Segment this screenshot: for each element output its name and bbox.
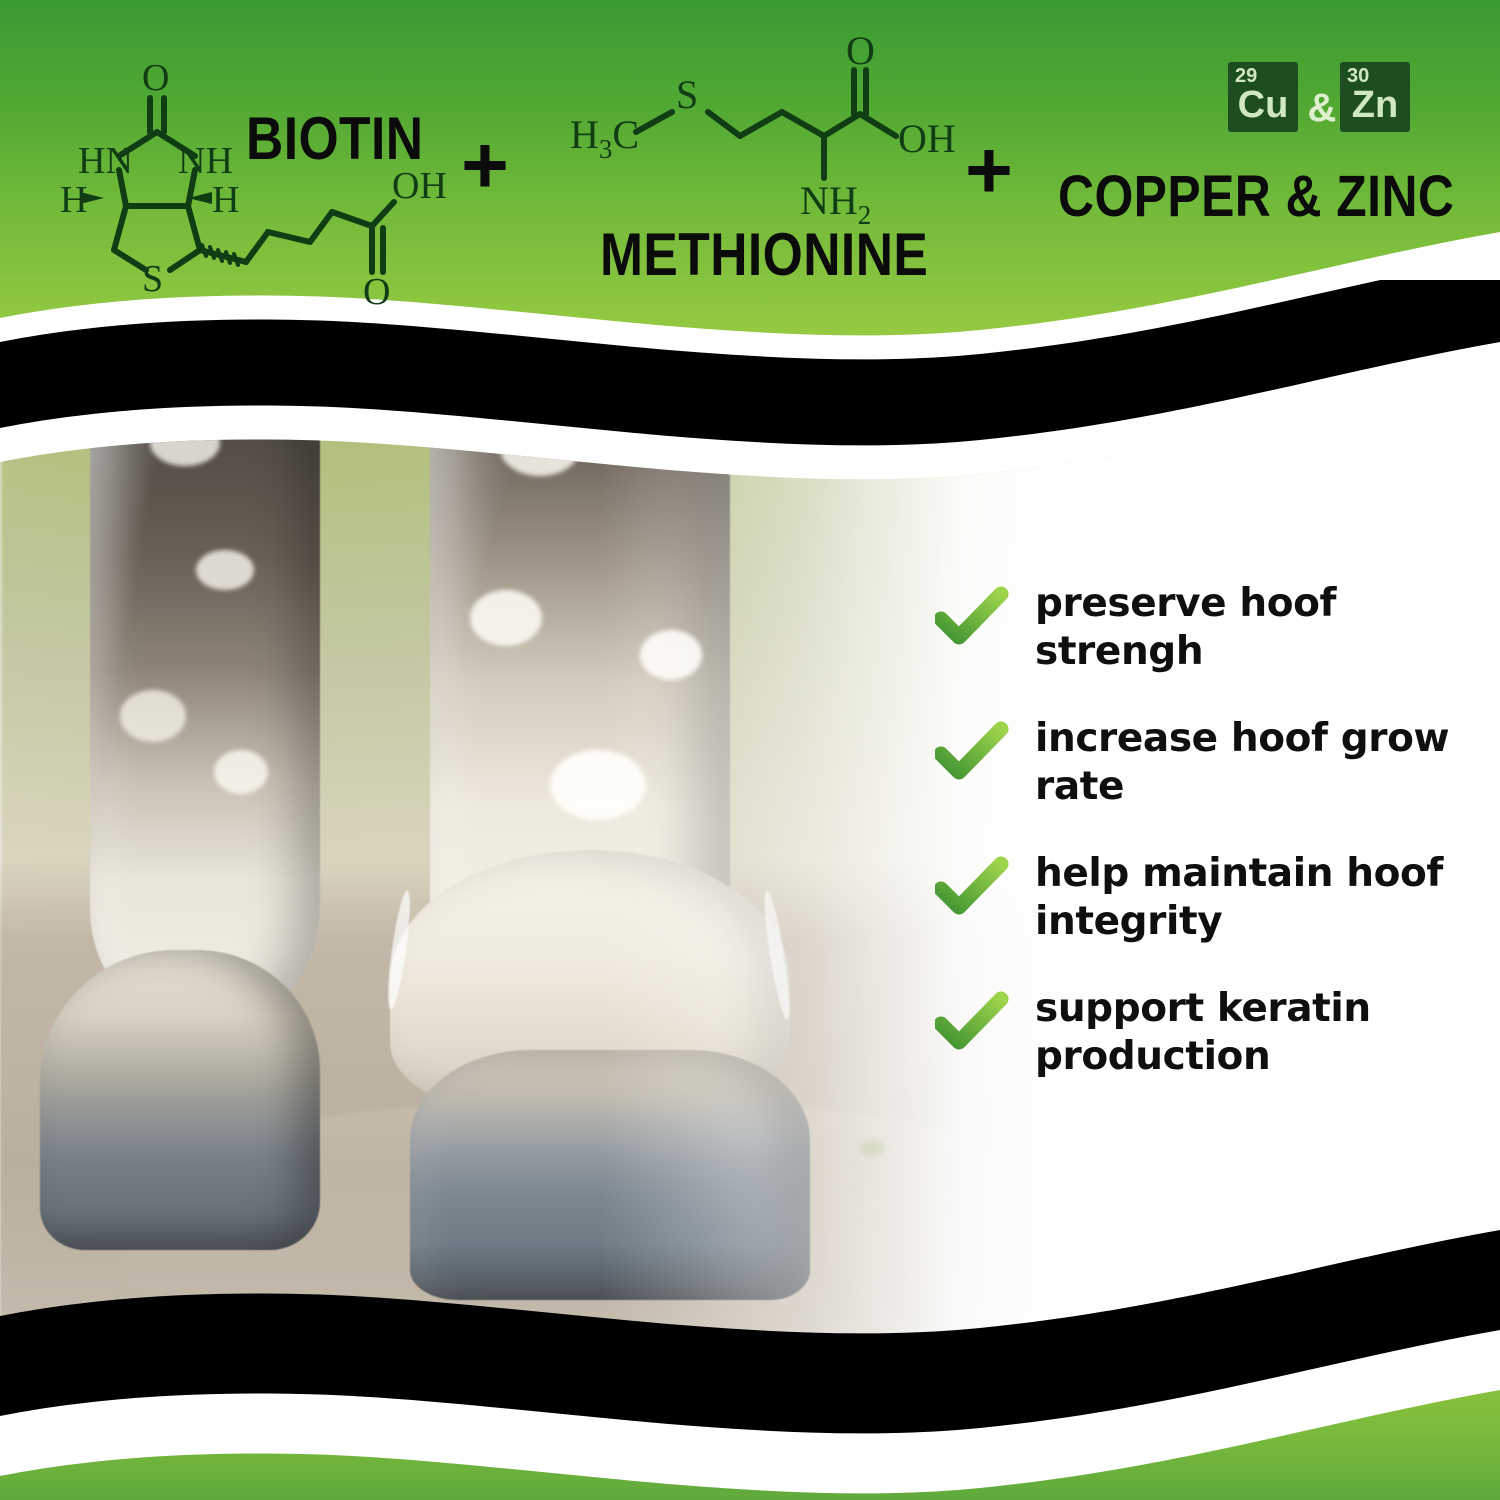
biotin-label-nh: NH bbox=[178, 140, 233, 182]
benefit-item: preserve hoof strengh bbox=[935, 580, 1475, 675]
ingredient-name-methionine: METHIONINE bbox=[600, 220, 928, 289]
benefit-label: preserve hoof strengh bbox=[1035, 580, 1465, 675]
header-content: O HN NH H H S OH O BIOTIN + bbox=[0, 0, 1500, 330]
benefits-list: preserve hoof strengh increase hoof grow… bbox=[935, 580, 1475, 1121]
biotin-label-s: S bbox=[142, 258, 163, 300]
periodic-tile-copper: 29 Cu bbox=[1228, 62, 1298, 132]
biotin-label-hn: HN bbox=[78, 140, 133, 182]
element-symbol-copper: Cu bbox=[1228, 86, 1298, 124]
benefit-item: help maintain hoof integrity bbox=[935, 850, 1475, 945]
biotin-label-o-top: O bbox=[142, 57, 169, 99]
element-symbol-zinc: Zn bbox=[1340, 86, 1410, 124]
biotin-label-h-left: H bbox=[60, 179, 87, 221]
check-icon bbox=[935, 586, 1009, 648]
methionine-structure-icon: H3C S O OH NH2 bbox=[560, 36, 960, 226]
benefit-item: increase hoof grow rate bbox=[935, 715, 1475, 810]
methionine-label-h3c: H3C bbox=[570, 112, 639, 164]
methionine-label-o-top: O bbox=[846, 28, 875, 73]
ingredient-name-biotin: BIOTIN bbox=[246, 104, 423, 173]
methionine-label-oh: OH bbox=[898, 116, 956, 161]
benefit-item: support keratin production bbox=[935, 985, 1475, 1080]
plus-sign-2: + bbox=[965, 130, 1013, 212]
periodic-tile-zinc: 30 Zn bbox=[1340, 62, 1410, 132]
biotin-structure-icon: O HN NH H H S OH O bbox=[60, 46, 460, 308]
check-icon bbox=[935, 991, 1009, 1053]
ingredient-name-copper-zinc: COPPER & ZINC bbox=[1058, 163, 1454, 230]
plus-sign-1: + bbox=[461, 125, 509, 207]
check-icon bbox=[935, 721, 1009, 783]
biotin-label-o-bottom: O bbox=[363, 271, 390, 313]
biotin-label-h-right: H bbox=[212, 179, 239, 221]
check-icon bbox=[935, 856, 1009, 918]
benefit-label: help maintain hoof integrity bbox=[1035, 850, 1465, 945]
product-infographic: O HN NH H H S OH O BIOTIN + bbox=[0, 0, 1500, 1500]
benefit-label: increase hoof grow rate bbox=[1035, 715, 1465, 810]
benefit-label: support keratin production bbox=[1035, 985, 1465, 1080]
ampersand-glyph: & bbox=[1300, 86, 1344, 131]
methionine-label-s: S bbox=[676, 72, 698, 117]
